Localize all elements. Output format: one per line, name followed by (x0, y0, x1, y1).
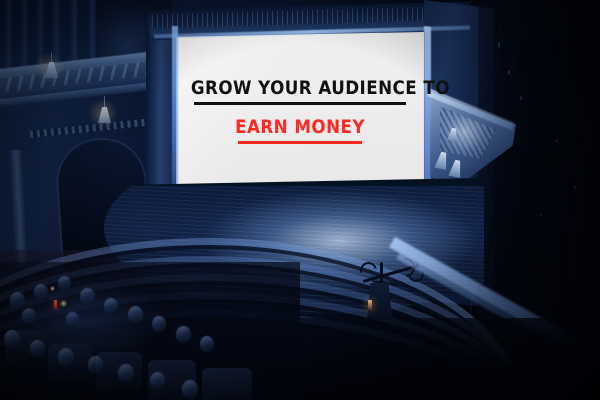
theater-banner-image: GROW YOUR AUDIENCE TO EARN MONEY (0, 0, 600, 400)
audience-head (58, 276, 71, 291)
dust-speck (556, 140, 558, 142)
audience-head (152, 316, 166, 332)
audience-head (128, 306, 143, 323)
seat-back (202, 368, 252, 400)
audience-head (182, 380, 198, 398)
dust-speck (508, 70, 510, 75)
audience-warm-light (50, 286, 55, 291)
audience-head (176, 326, 191, 343)
dust-speck (498, 42, 500, 48)
audience-head (4, 330, 20, 348)
lower-right-shadow (300, 318, 600, 400)
audience-head (30, 340, 45, 357)
stage-lamp-light (368, 300, 372, 310)
headline-underline (194, 102, 406, 105)
audience-head (80, 288, 95, 305)
lamp-glow (88, 98, 118, 128)
subline-underline (238, 141, 362, 144)
audience-head (34, 284, 48, 300)
audience-head (58, 348, 74, 366)
wall-fold (4, 0, 13, 78)
dust-speck (574, 186, 576, 189)
audience-head (118, 364, 134, 382)
audience-red-light (54, 300, 57, 309)
dust-speck (540, 214, 542, 216)
headline-text: GROW YOUR AUDIENCE TO (191, 77, 409, 99)
dust-speck (520, 96, 522, 100)
audience-head (10, 292, 25, 309)
audience-head (200, 336, 214, 352)
audience-head (66, 312, 79, 327)
subline-text: EARN MONEY (191, 116, 409, 138)
audience-warm-light (60, 300, 67, 307)
audience-head (104, 298, 118, 314)
audience-head (88, 356, 103, 373)
audience-head (150, 372, 165, 389)
audience-head (22, 308, 36, 324)
